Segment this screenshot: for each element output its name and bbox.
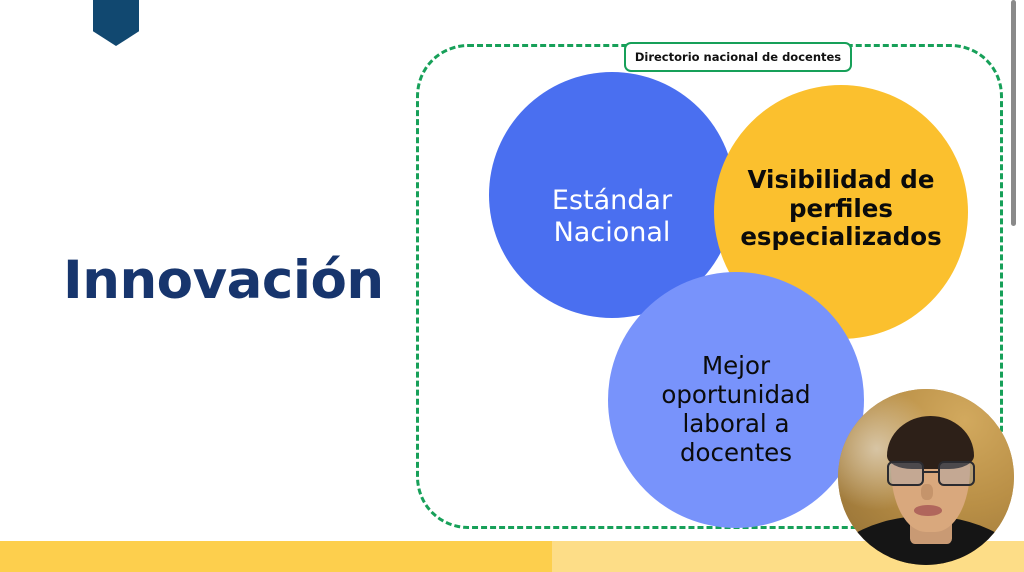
page-scrollbar-track[interactable] (1014, 0, 1020, 572)
footer-bar-left (0, 541, 552, 572)
webcam-glasses-bridge (924, 471, 938, 474)
venn-circle-mejor-oportunidad: Mejor oportunidad laboral a docentes (608, 272, 864, 528)
diagram-container-label: Directorio nacional de docentes (624, 42, 852, 72)
diagram-container-label-text: Directorio nacional de docentes (635, 50, 841, 64)
venn-circle-visibilidad-perfiles-label: Visibilidad de perfiles especializados (734, 166, 947, 259)
webcam-glasses-lens-right (938, 461, 975, 486)
webcam-glasses-lens-left (887, 461, 924, 486)
presentation-slide: Innovación Directorio nacional de docent… (0, 0, 1024, 572)
webcam-glasses-icon (887, 461, 975, 486)
page-title: Innovación (63, 251, 384, 312)
presenter-video-bubble[interactable] (838, 389, 1014, 565)
venn-circle-mejor-oportunidad-label: Mejor oportunidad laboral a docentes (655, 332, 816, 468)
venn-circle-estandar-nacional-label: Estándar Nacional (546, 141, 678, 249)
webcam-mouth (914, 505, 942, 516)
webcam-nose (921, 484, 933, 500)
page-scrollbar-thumb[interactable] (1011, 0, 1016, 226)
bookmark-ribbon-icon (93, 0, 139, 46)
